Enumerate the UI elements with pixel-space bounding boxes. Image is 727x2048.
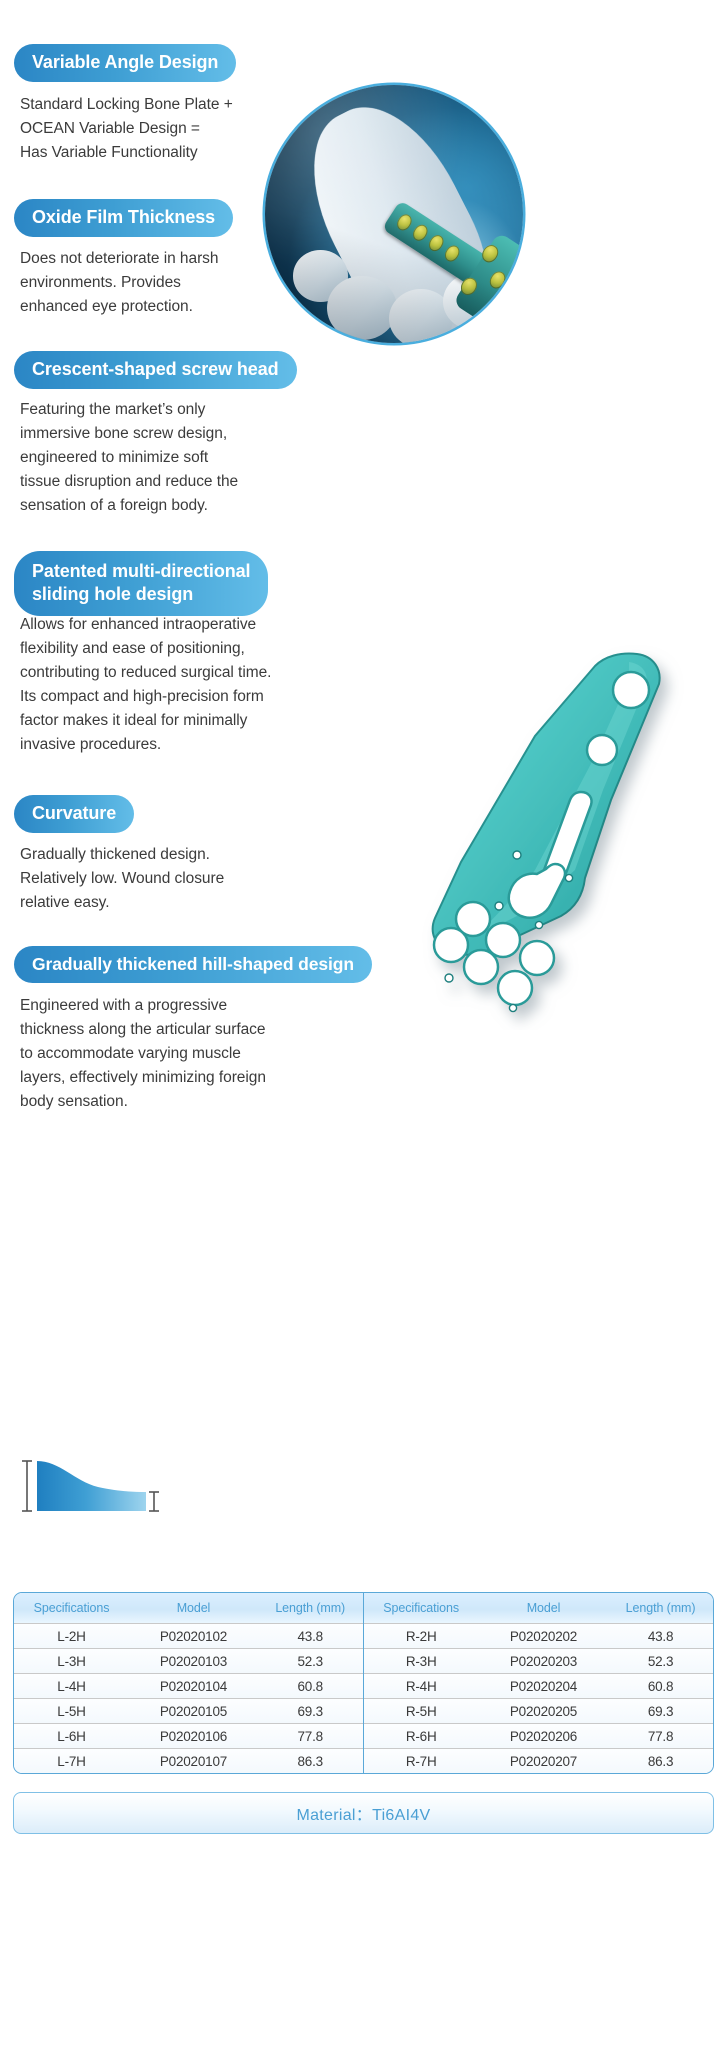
feature-badge-curvature: Curvature	[14, 795, 134, 833]
cell-length: 52.3	[258, 1654, 363, 1669]
cell-model: P02020205	[479, 1704, 608, 1719]
cell-model: P02020104	[129, 1679, 258, 1694]
cell-model: P02020207	[479, 1754, 608, 1769]
cell-model: P02020203	[479, 1654, 608, 1669]
table-row: R-6H P02020206 77.8	[364, 1723, 714, 1748]
feature-badge-variable-angle-design: Variable Angle Design	[14, 44, 236, 82]
feature-body-crescent-shaped-screw-head: Featuring the market’s only immersive bo…	[20, 398, 320, 518]
column-header-length: Length (mm)	[608, 1601, 713, 1615]
cell-length: 60.8	[608, 1679, 713, 1694]
plate-illustration	[415, 640, 715, 1030]
table-header-row: Specifications Model Length (mm)	[14, 1593, 363, 1623]
infographic-page: Variable Angle Design Standard Locking B…	[0, 0, 727, 2048]
cell-specification: L-4H	[14, 1679, 129, 1694]
spec-table-right: Specifications Model Length (mm) R-2H P0…	[364, 1593, 714, 1773]
cell-specification: R-3H	[364, 1654, 479, 1669]
cell-specification: R-4H	[364, 1679, 479, 1694]
column-header-specifications: Specifications	[364, 1601, 479, 1615]
right-caliper-bracket	[149, 1492, 159, 1511]
hero-product-photo	[265, 85, 523, 343]
column-header-specifications: Specifications	[14, 1601, 129, 1615]
material-bar: Material：Ti6AI4V	[13, 1792, 714, 1834]
cell-model: P02020202	[479, 1629, 608, 1644]
cell-specification: R-6H	[364, 1729, 479, 1744]
feature-body-gradually-thickened-hill-shaped-design: Engineered with a progressive thickness …	[20, 994, 340, 1114]
cell-model: P02020206	[479, 1729, 608, 1744]
thickness-wedge-diagram	[18, 1455, 168, 1517]
cell-specification: R-7H	[364, 1754, 479, 1769]
wedge-shape	[37, 1461, 146, 1511]
table-row: R-5H P02020205 69.3	[364, 1698, 714, 1723]
cell-length: 77.8	[608, 1729, 713, 1744]
feature-badge-patented-sliding-hole-design: Patented multi-directional sliding hole …	[14, 551, 268, 616]
feature-badge-crescent-shaped-screw-head: Crescent-shaped screw head	[14, 351, 297, 389]
left-caliper-bracket	[22, 1461, 32, 1511]
feature-body-oxide-film-thickness: Does not deteriorate in harsh environmen…	[20, 247, 280, 319]
cell-length: 52.3	[608, 1654, 713, 1669]
cell-specification: L-3H	[14, 1654, 129, 1669]
table-row: L-7H P02020107 86.3	[14, 1748, 363, 1773]
cell-length: 43.8	[608, 1629, 713, 1644]
column-header-model: Model	[479, 1601, 608, 1615]
table-row: L-6H P02020106 77.8	[14, 1723, 363, 1748]
spec-table-left: Specifications Model Length (mm) L-2H P0…	[14, 1593, 364, 1773]
feature-body-curvature: Gradually thickened design. Relatively l…	[20, 843, 300, 915]
material-text: Material：Ti6AI4V	[296, 1801, 430, 1825]
table-header-row: Specifications Model Length (mm)	[364, 1593, 714, 1623]
cell-length: 60.8	[258, 1679, 363, 1694]
cell-specification: L-5H	[14, 1704, 129, 1719]
table-row: R-3H P02020203 52.3	[364, 1648, 714, 1673]
table-row: L-3H P02020103 52.3	[14, 1648, 363, 1673]
cell-specification: L-2H	[14, 1629, 129, 1644]
cell-model: P02020102	[129, 1629, 258, 1644]
table-row: R-7H P02020207 86.3	[364, 1748, 714, 1773]
cell-length: 86.3	[258, 1754, 363, 1769]
specification-tables: Specifications Model Length (mm) L-2H P0…	[13, 1592, 714, 1774]
table-row: R-2H P02020202 43.8	[364, 1623, 714, 1648]
table-row: L-5H P02020105 69.3	[14, 1698, 363, 1723]
table-row: L-4H P02020104 60.8	[14, 1673, 363, 1698]
feature-body-variable-angle-design: Standard Locking Bone Plate + OCEAN Vari…	[20, 93, 280, 165]
feature-badge-oxide-film-thickness: Oxide Film Thickness	[14, 199, 233, 237]
cell-model: P02020103	[129, 1654, 258, 1669]
cell-length: 69.3	[258, 1704, 363, 1719]
cell-model: P02020204	[479, 1679, 608, 1694]
cell-length: 77.8	[258, 1729, 363, 1744]
column-header-length: Length (mm)	[258, 1601, 363, 1615]
cell-specification: L-6H	[14, 1729, 129, 1744]
cell-length: 43.8	[258, 1629, 363, 1644]
feature-body-patented-sliding-hole-design: Allows for enhanced intraoperative flexi…	[20, 613, 330, 757]
cell-specification: R-5H	[364, 1704, 479, 1719]
cell-model: P02020106	[129, 1729, 258, 1744]
cell-model: P02020107	[129, 1754, 258, 1769]
table-row: R-4H P02020204 60.8	[364, 1673, 714, 1698]
cell-specification: L-7H	[14, 1754, 129, 1769]
cell-length: 86.3	[608, 1754, 713, 1769]
cell-model: P02020105	[129, 1704, 258, 1719]
column-header-model: Model	[129, 1601, 258, 1615]
cell-specification: R-2H	[364, 1629, 479, 1644]
cell-length: 69.3	[608, 1704, 713, 1719]
feature-badge-gradually-thickened-hill-shaped-design: Gradually thickened hill-shaped design	[14, 946, 372, 983]
table-row: L-2H P02020102 43.8	[14, 1623, 363, 1648]
